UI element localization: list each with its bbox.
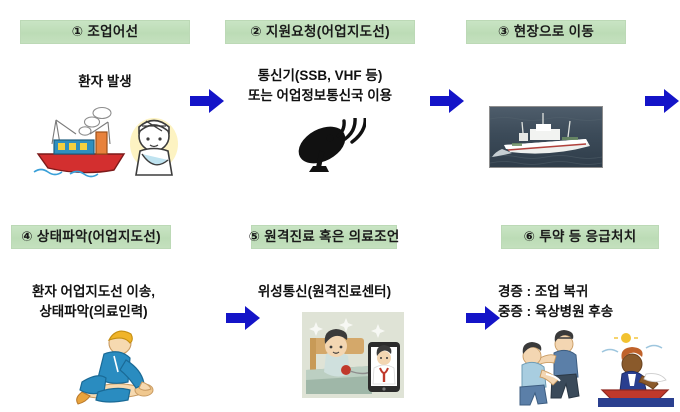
- diagram-canvas: ① 조업어선 환자 발생: [0, 0, 680, 412]
- step-2-caption: 통신기(SSB, VHF 등) 또는 어업정보통신국 이용: [215, 66, 425, 105]
- step-1-caption: 환자 발생: [20, 72, 190, 92]
- guidance-vessel-photo: [489, 106, 603, 168]
- arrow-2-to-3: [430, 88, 464, 114]
- arrow-3-to-4: [645, 88, 679, 114]
- step-1-header-label: ① 조업어선: [72, 25, 139, 39]
- boat-hull-icon: [38, 154, 124, 173]
- step-4-header-label: ④ 상태파악(어업지도선): [21, 230, 161, 244]
- tablet-icon: [368, 342, 400, 392]
- fishing-boat-and-injured-patient-art: [30, 104, 182, 180]
- step-4-caption-line-2: 상태파악(의료인력): [6, 302, 181, 322]
- step-2-header-label: ② 지원요청(어업지도선): [250, 25, 390, 39]
- step-5-caption: 위성통신(원격진료센터): [247, 282, 402, 302]
- telemedicine-tablet-art: [302, 312, 404, 398]
- step-1-caption-line-1: 환자 발생: [20, 72, 190, 92]
- step-2-caption-line-2: 또는 어업정보통신국 이용: [215, 86, 425, 106]
- satellite-dish-art: [296, 118, 366, 178]
- step-6-caption: 경증 : 조업 복귀 중증 : 육상병원 후송: [498, 282, 678, 321]
- arrow-5-to-6: [466, 305, 500, 331]
- arrow-4-to-5: [226, 305, 260, 331]
- paddle-icon: [644, 374, 666, 382]
- satellite-dish-icon: [296, 118, 366, 178]
- step-4-caption: 환자 어업지도선 이송, 상태파악(의료인력): [6, 282, 181, 321]
- water-block-icon: [598, 398, 674, 407]
- step-2-header: ② 지원요청(어업지도선): [225, 20, 415, 44]
- step-6-header: ⑥ 투약 등 응급처치: [501, 225, 659, 249]
- sun-icon: [614, 330, 638, 343]
- step-6-caption-line-1: 경증 : 조업 복귀: [498, 282, 678, 302]
- step-5-header: ⑤ 원격진료 혹은 의료조언: [251, 225, 397, 249]
- step-4-header: ④ 상태파악(어업지도선): [11, 225, 171, 249]
- step-2-caption-line-1: 통신기(SSB, VHF 등): [215, 66, 425, 86]
- step-5-caption-line-1: 위성통신(원격진료센터): [247, 282, 402, 302]
- step-1-header: ① 조업어선: [20, 20, 190, 44]
- sensor-icon: [341, 365, 351, 375]
- step-5-header-label: ⑤ 원격진료 혹은 의료조언: [248, 230, 399, 244]
- first-aid-cpr-art: [58, 326, 168, 408]
- step-3-header-label: ③ 현장으로 이동: [498, 25, 594, 39]
- step-3-header: ③ 현장으로 이동: [466, 20, 626, 44]
- step-4-caption-line-1: 환자 어업지도선 이송,: [6, 282, 181, 302]
- step-6-header-label: ⑥ 투약 등 응급처치: [524, 230, 637, 244]
- funnel-icon: [96, 132, 107, 154]
- step-6-caption-line-2: 중증 : 육상병원 후송: [498, 302, 678, 322]
- boat-crew-icon: [620, 347, 666, 391]
- patient-transport-and-boat-art: [506, 330, 676, 408]
